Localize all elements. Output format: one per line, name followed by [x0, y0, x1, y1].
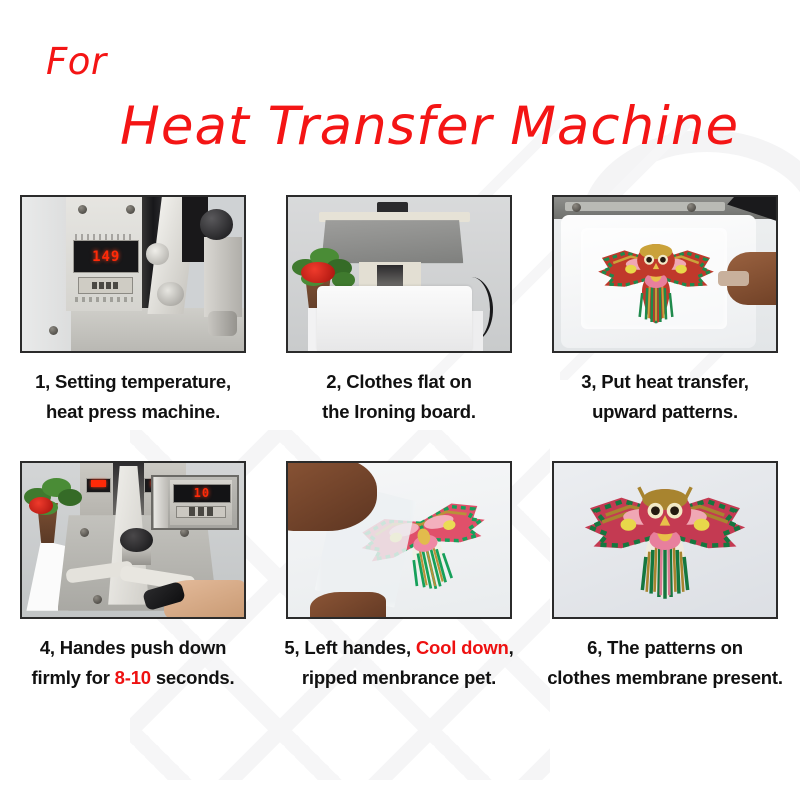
- owl-transfer-graphic: [592, 239, 720, 327]
- steps-row-1: 149 1, Setting temperature, heat press m…: [0, 195, 800, 427]
- hand-holding-garment: [310, 592, 385, 619]
- step-photo-1: 149: [20, 195, 246, 353]
- timer-display: 10: [173, 484, 231, 502]
- step-photo-4: 10: [20, 461, 246, 619]
- header-pretitle: For: [46, 40, 107, 83]
- step-caption-2-line1: 2, Clothes flat on: [326, 371, 471, 392]
- owl-finished-print: [577, 482, 753, 604]
- cool-down-highlight: Cool down: [416, 637, 509, 658]
- rose-decoration: [301, 262, 334, 284]
- hand-peeling-film: [286, 461, 377, 531]
- step-caption-6-line2: clothes membrane present.: [540, 663, 790, 693]
- step-caption-4: 4, Handes push down firmly for 8-10 seco…: [8, 633, 258, 693]
- step-caption-6-line1: 6, The patterns on: [587, 637, 743, 658]
- steps-grid: 149 1, Setting temperature, heat press m…: [0, 195, 800, 693]
- step-caption-1-line2: heat press machine.: [8, 397, 258, 427]
- step-caption-4-line2-post: seconds.: [151, 667, 235, 688]
- steps-row-2: 10 4, Handes push down firmly for 8-10 s…: [0, 461, 800, 693]
- timer-value: 10: [194, 486, 210, 500]
- step-caption-4-line2-pre: firmly for: [32, 667, 115, 688]
- step-photo-6: [552, 461, 778, 619]
- step-card-2: 2, Clothes flat on the Ironing board.: [266, 195, 532, 427]
- step-photo-5: [286, 461, 512, 619]
- temperature-value: 149: [92, 249, 120, 265]
- page-title: Heat Transfer Machine: [120, 96, 739, 157]
- temperature-display: 149: [73, 240, 139, 273]
- step-caption-5-line1-pre: 5, Left handes,: [284, 637, 415, 658]
- step-caption-4-line2: firmly for 8-10 seconds.: [8, 663, 258, 693]
- step-caption-1: 1, Setting temperature, heat press machi…: [8, 367, 258, 427]
- duration-highlight: 8-10: [115, 667, 151, 688]
- step-caption-5-line1: 5, Left handes, Cool down,: [284, 637, 513, 658]
- step-card-5: 5, Left handes, Cool down, ripped menbra…: [266, 461, 532, 693]
- step-photo-2: [286, 195, 512, 353]
- step-caption-6: 6, The patterns on clothes membrane pres…: [540, 633, 790, 693]
- press-display-left: [86, 478, 110, 492]
- step-card-1: 149 1, Setting temperature, heat press m…: [0, 195, 266, 427]
- step-caption-4-line1: 4, Handes push down: [40, 637, 226, 658]
- step-caption-2-line2: the Ironing board.: [274, 397, 524, 427]
- step-caption-3-line2: upward patterns.: [540, 397, 790, 427]
- rose-decoration: [29, 497, 53, 514]
- step-caption-5-line1-post: ,: [509, 637, 514, 658]
- step-caption-3-line1: 3, Put heat transfer,: [581, 371, 749, 392]
- step-caption-5-line2: ripped menbrance pet.: [274, 663, 524, 693]
- step-caption-3: 3, Put heat transfer, upward patterns.: [540, 367, 790, 427]
- step-caption-2: 2, Clothes flat on the Ironing board.: [274, 367, 524, 427]
- step-caption-1-line1: 1, Setting temperature,: [35, 371, 231, 392]
- infographic-page: For Heat Transfer Machine: [0, 0, 800, 800]
- display-closeup-inset: 10: [151, 475, 239, 530]
- step-card-3: 3, Put heat transfer, upward patterns.: [532, 195, 798, 427]
- step-caption-5: 5, Left handes, Cool down, ripped menbra…: [274, 633, 524, 693]
- step-card-6: 6, The patterns on clothes membrane pres…: [532, 461, 798, 693]
- step-card-4: 10 4, Handes push down firmly for 8-10 s…: [0, 461, 266, 693]
- step-photo-3: [552, 195, 778, 353]
